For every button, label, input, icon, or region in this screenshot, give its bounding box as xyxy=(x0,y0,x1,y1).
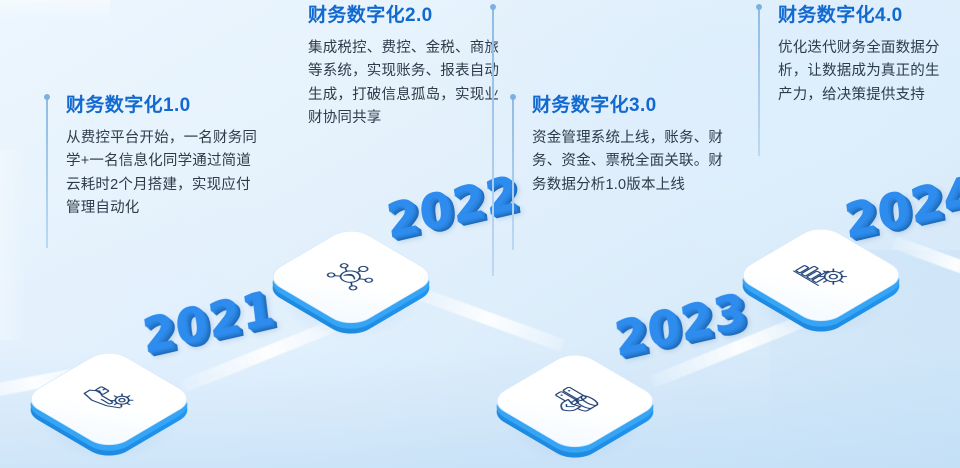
year-label-2022: 2022 xyxy=(383,165,521,250)
background-panel-top-left xyxy=(0,0,110,22)
milestone-text-2024: 财务数字化4.0 优化迭代财务全面数据分析，让数据成为真正的生产力，给决策提供支… xyxy=(758,4,954,107)
milestone-description: 从费控平台开始，一名财务同学+一名信息化同学通过简道云耗时2个月搭建，实现应付管… xyxy=(66,127,260,221)
milestone-text-2023: 财务数字化3.0 资金管理系统上线，账务、财务、资金、票税全面关联。财务数据分析… xyxy=(512,94,726,197)
milestone-title: 财务数字化3.0 xyxy=(532,94,726,118)
connector-stem xyxy=(512,98,514,250)
connector-stem xyxy=(758,8,760,156)
milestone-title: 财务数字化1.0 xyxy=(66,94,260,118)
milestone-title: 财务数字化2.0 xyxy=(308,4,502,28)
milestone-title: 财务数字化4.0 xyxy=(778,4,954,28)
milestone-description: 集成税控、费控、金税、商旅等系统，实现账务、报表自动生成，打破信息孤岛，实现业财… xyxy=(308,37,502,131)
timeline-infographic: 2021 2022 xyxy=(0,0,960,468)
milestone-text-2022: 财务数字化2.0 集成税控、费控、金税、商旅等系统，实现账务、报表自动生成，打破… xyxy=(288,4,502,131)
connector-stem xyxy=(492,8,494,276)
connector-stem xyxy=(46,98,48,248)
milestone-description: 资金管理系统上线，账务、财务、资金、票税全面关联。财务数据分析1.0版本上线 xyxy=(532,127,726,197)
year-label-2024: 2024 xyxy=(841,165,960,250)
milestone-text-2021: 财务数字化1.0 从费控平台开始，一名财务同学+一名信息化同学通过简道云耗时2个… xyxy=(46,94,260,221)
milestone-description: 优化迭代财务全面数据分析，让数据成为真正的生产力，给决策提供支持 xyxy=(778,37,954,107)
background-panel-left xyxy=(0,150,26,340)
